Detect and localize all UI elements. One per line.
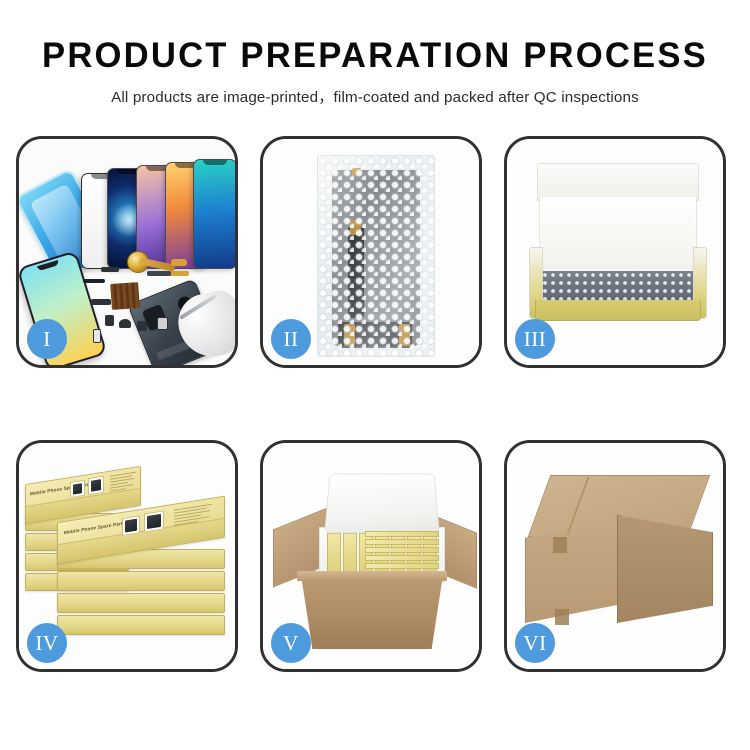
carton-tape-lower [555,609,569,625]
bubble-wrapped-contents [541,271,695,303]
step-badge-3: III [515,319,555,359]
step-badge-4: IV [27,623,67,663]
page-subtitle: All products are image-printed，film-coat… [0,85,750,107]
carton-tape-upper [553,537,567,553]
chip-grid-icon [110,282,140,310]
carton-front-face [301,575,443,649]
sealed-carton-icon [525,475,713,631]
inner-box-open-icon [529,163,707,325]
page-header: PRODUCT PREPARATION PROCESS All products… [0,0,750,107]
phone-display-fan [81,157,231,269]
step-badge-5: V [271,623,311,663]
process-step-panel-6[interactable]: VI [504,440,726,672]
process-steps-grid: I II [16,136,734,684]
bubble-wrap-bag-icon [317,155,435,357]
page-title: PRODUCT PREPARATION PROCESS [4,38,747,75]
step-badge-1: I [27,319,67,359]
step-badge-2: II [271,319,311,359]
process-step-panel-4[interactable]: Mobile Phone Spare Parts [16,440,238,672]
foam-lid-icon [324,474,439,534]
step-badge-6: VI [515,623,555,663]
process-step-panel-2[interactable]: II [260,136,482,368]
product-preparation-page: PRODUCT PREPARATION PROCESS All products… [0,0,750,750]
process-step-panel-5[interactable]: V [260,440,482,672]
open-shipping-carton-icon [279,471,469,641]
stacked-boxes-icon: Mobile Phone Spare Parts [25,465,231,651]
process-step-panel-1[interactable]: I [16,136,238,368]
process-step-panel-3[interactable]: III [504,136,726,368]
